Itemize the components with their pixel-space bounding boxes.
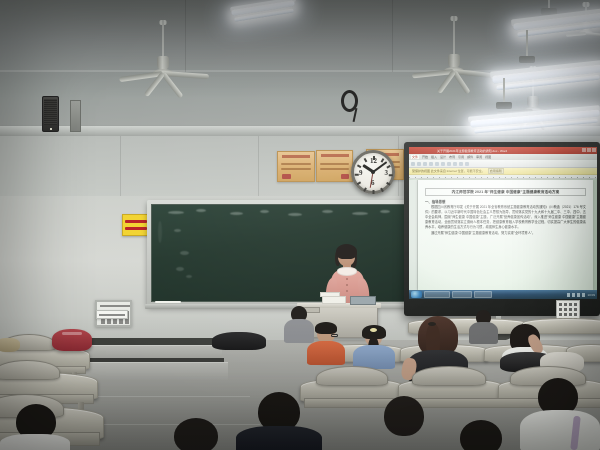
document-title: 内江师范学院 2021 年"师生健康 中国健康"主题健康教育活动方案 [425, 188, 586, 196]
bag-small-left [0, 338, 20, 352]
tab-layout[interactable]: 布局 [449, 155, 455, 159]
culture-banner-center [316, 150, 353, 182]
document-ruler [409, 175, 597, 179]
tab-file[interactable]: 文件 [411, 155, 419, 159]
numbered-list-icon[interactable] [447, 162, 451, 166]
tab-review[interactable]: 审阅 [476, 155, 482, 159]
ime-icon[interactable] [582, 293, 585, 297]
student-orange-shirt [306, 324, 346, 360]
chair-right-3b [412, 366, 486, 386]
highlight-icon[interactable] [459, 162, 463, 166]
lectern-monitor[interactable] [350, 296, 376, 305]
hair-tie-dark [428, 322, 436, 326]
fluorescent-light-back-right [466, 78, 600, 134]
protected-view-message: 受保护的视图 此文件来自 Internet 位置，可能不安全。 [412, 169, 485, 173]
clock-numeral-3: 3 [385, 169, 389, 177]
italic-icon[interactable] [417, 162, 421, 166]
chair-left-2 [0, 360, 60, 380]
glasses-icon [331, 334, 338, 337]
tab-design[interactable]: 设计 [440, 155, 446, 159]
chalk-stick [155, 301, 181, 303]
enable-editing-button[interactable]: 启用编辑 [488, 168, 504, 174]
document-page[interactable]: 内江师范学院 2021 年"师生健康 中国健康"主题健康教育活动方案 一、指导思… [418, 180, 593, 290]
tab-view[interactable]: 视图 [485, 155, 491, 159]
navigation-pane[interactable] [409, 180, 418, 290]
projection-screen[interactable]: 关于开展2021年主题健康教育活动的通知.doc - Word 文件 开始 插入… [404, 142, 600, 316]
volume-icon[interactable] [572, 293, 575, 297]
aisle-step-lower [80, 362, 228, 380]
document-section-heading: 一、指导思想 [425, 199, 586, 204]
bold-icon[interactable] [411, 162, 415, 166]
document-paragraph-2: 通过开展"师生健康 中国健康"主题健康教育活动，努力实现"全环境育人"。 [425, 231, 586, 236]
clock-numeral-9: 9 [359, 169, 363, 177]
student-head-partial-2 [452, 420, 510, 450]
word-title-text: 关于开展2021年主题健康教育活动的通知.doc - Word [437, 149, 507, 153]
chair-right-3a [316, 366, 388, 386]
battery-icon[interactable] [577, 293, 580, 297]
dark-jacket-on-chair [212, 332, 266, 350]
taskbar-clock[interactable]: 10:09 [587, 293, 595, 297]
tab-mailings[interactable]: 邮件 [467, 155, 473, 159]
aisle-notice [96, 310, 128, 319]
student-dark-top-back-right [468, 310, 500, 342]
projected-desktop[interactable]: 关于开展2021年主题健康教育活动的通知.doc - Word 文件 开始 插入… [409, 147, 597, 299]
student-navy-foreground [236, 392, 322, 450]
classroom-photo: 12 3 6 9 [0, 0, 600, 450]
tab-insert[interactable]: 插入 [431, 155, 437, 159]
align-left-icon[interactable] [429, 162, 433, 166]
align-center-icon[interactable] [435, 162, 439, 166]
protected-view-bar[interactable]: 受保护的视图 此文件来自 Internet 位置，可能不安全。 启用编辑 [409, 168, 597, 175]
student-white-foreground-right [520, 378, 600, 450]
student-lightblue-shirt [352, 326, 396, 364]
bullet-list-icon[interactable] [441, 162, 445, 166]
baseboard [86, 338, 220, 345]
ribbon-toolbar[interactable] [409, 160, 597, 168]
tab-home[interactable]: 开始 [422, 155, 428, 159]
aisle-step-upper [86, 345, 222, 359]
papers-on-lectern [322, 296, 346, 304]
start-button[interactable] [411, 291, 422, 298]
wall-speaker-secondary [70, 100, 81, 132]
culture-banner-left [277, 151, 315, 182]
windows-taskbar[interactable]: 10:09 [409, 290, 597, 299]
student-head-partial-3 [168, 418, 226, 450]
document-paragraph-1: 根据四川省教育厅印发《关于开展 2021 年全省教育系统主题健康教育活动的通知》… [425, 205, 586, 230]
taskbar-button-word[interactable] [424, 291, 450, 298]
taskbar-button-explorer[interactable] [452, 291, 472, 298]
underline-icon[interactable] [423, 162, 427, 166]
window-controls[interactable] [582, 148, 596, 152]
papers-on-lectern-2 [320, 292, 340, 297]
clock-numeral-12: 12 [370, 157, 377, 165]
word-title-bar: 关于开展2021年主题健康教育活动的通知.doc - Word [409, 147, 597, 154]
student-head-partial-1 [374, 396, 434, 450]
backpack-strap [62, 332, 82, 335]
safety-sign [122, 214, 149, 236]
system-tray[interactable]: 10:09 [567, 293, 595, 297]
fluorescent-light-far-right [228, 0, 298, 34]
tab-references[interactable]: 引用 [458, 155, 464, 159]
hair-tie [370, 328, 377, 332]
wall-clock: 12 3 6 9 [351, 150, 395, 194]
network-icon[interactable] [567, 293, 570, 297]
taskbar-button-browser[interactable] [474, 291, 492, 298]
wall-speaker [42, 96, 59, 132]
ceiling-fan-left [113, 20, 213, 90]
hair-short-black [315, 322, 337, 334]
styles-icon[interactable] [465, 162, 469, 166]
font-color-icon[interactable] [453, 162, 457, 166]
student-front-left-foreground [0, 404, 70, 450]
